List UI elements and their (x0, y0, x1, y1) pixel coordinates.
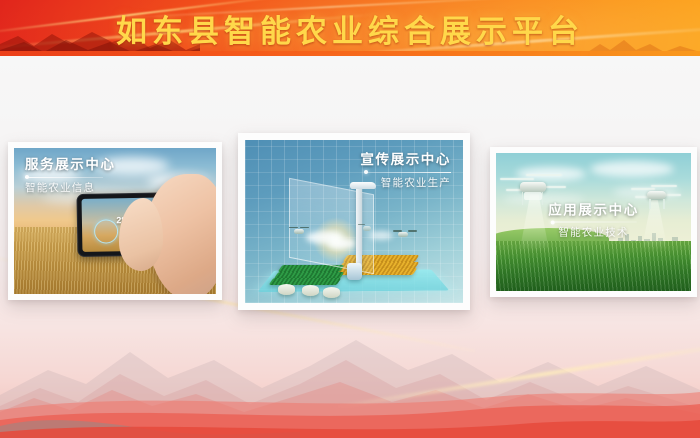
drone-leg (542, 192, 544, 205)
header-banner: 如东县智能农业综合展示平台 (0, 0, 700, 56)
page-title: 如东县智能农业综合展示平台 (0, 0, 700, 56)
drone-leg (649, 199, 651, 209)
card-service-subtitle: 智能农业信息 (25, 183, 116, 194)
drone-body (363, 226, 371, 231)
card-service-divider (25, 177, 103, 178)
drone-body (294, 229, 304, 234)
card-promotion-frame: 宣传展示中心 智能农业生产 (245, 140, 463, 303)
drone-icon (393, 228, 417, 240)
card-application-text: 应用展示中心 智能农业技术 (548, 203, 639, 238)
card-promotion-display-center[interactable]: 宣传展示中心 智能农业生产 (238, 133, 470, 310)
drone-icon (358, 222, 374, 230)
divider-dot-icon (364, 170, 368, 174)
drone-rotor (408, 230, 417, 232)
divider-dot-icon (25, 175, 29, 179)
hay-bale-icon (302, 285, 319, 296)
drone-body (647, 191, 666, 199)
drone-body (520, 182, 546, 192)
drone-rotor (631, 188, 655, 190)
water-tank-icon (347, 263, 362, 280)
drone-rotor (393, 230, 402, 232)
card-promotion-subtitle: 智能农业生产 (360, 178, 451, 189)
card-service-text: 服务展示中心 智能农业信息 (25, 158, 116, 193)
card-application-title: 应用展示中心 (548, 203, 639, 217)
drone-rotor (500, 178, 534, 180)
card-application-frame: 应用展示中心 智能农业技术 (496, 153, 691, 291)
divider-dot-icon (550, 220, 554, 224)
drone-rotor (526, 174, 562, 176)
card-service-frame: 28 服务展示中心 智能农业信息 (14, 148, 216, 294)
card-promotion-divider (367, 172, 451, 173)
drone-leg (663, 199, 665, 209)
hay-bale-icon (323, 287, 340, 298)
crop-row-green (269, 278, 342, 285)
drone-rotor (651, 185, 677, 187)
card-application-subtitle: 智能农业技术 (548, 228, 639, 239)
card-application-divider (550, 222, 636, 223)
card-promotion-text: 宣传展示中心 智能农业生产 (360, 153, 451, 188)
drone-body (398, 232, 408, 237)
hay-bale-icon (278, 284, 295, 295)
page-root: 如东县智能农业综合展示平台 (0, 0, 700, 438)
bottom-red-wave (0, 368, 700, 438)
card-promotion-title: 宣传展示中心 (360, 153, 451, 167)
hud-ring-icon (94, 220, 118, 244)
card-application-display-center[interactable]: 应用展示中心 智能农业技术 (490, 147, 697, 297)
drone-icon (289, 225, 309, 235)
drone-tank (524, 192, 542, 200)
drone-rotor (358, 224, 365, 226)
card-service-display-center[interactable]: 28 服务展示中心 智能农业信息 (8, 142, 222, 300)
card-service-title: 服务展示中心 (25, 158, 116, 172)
